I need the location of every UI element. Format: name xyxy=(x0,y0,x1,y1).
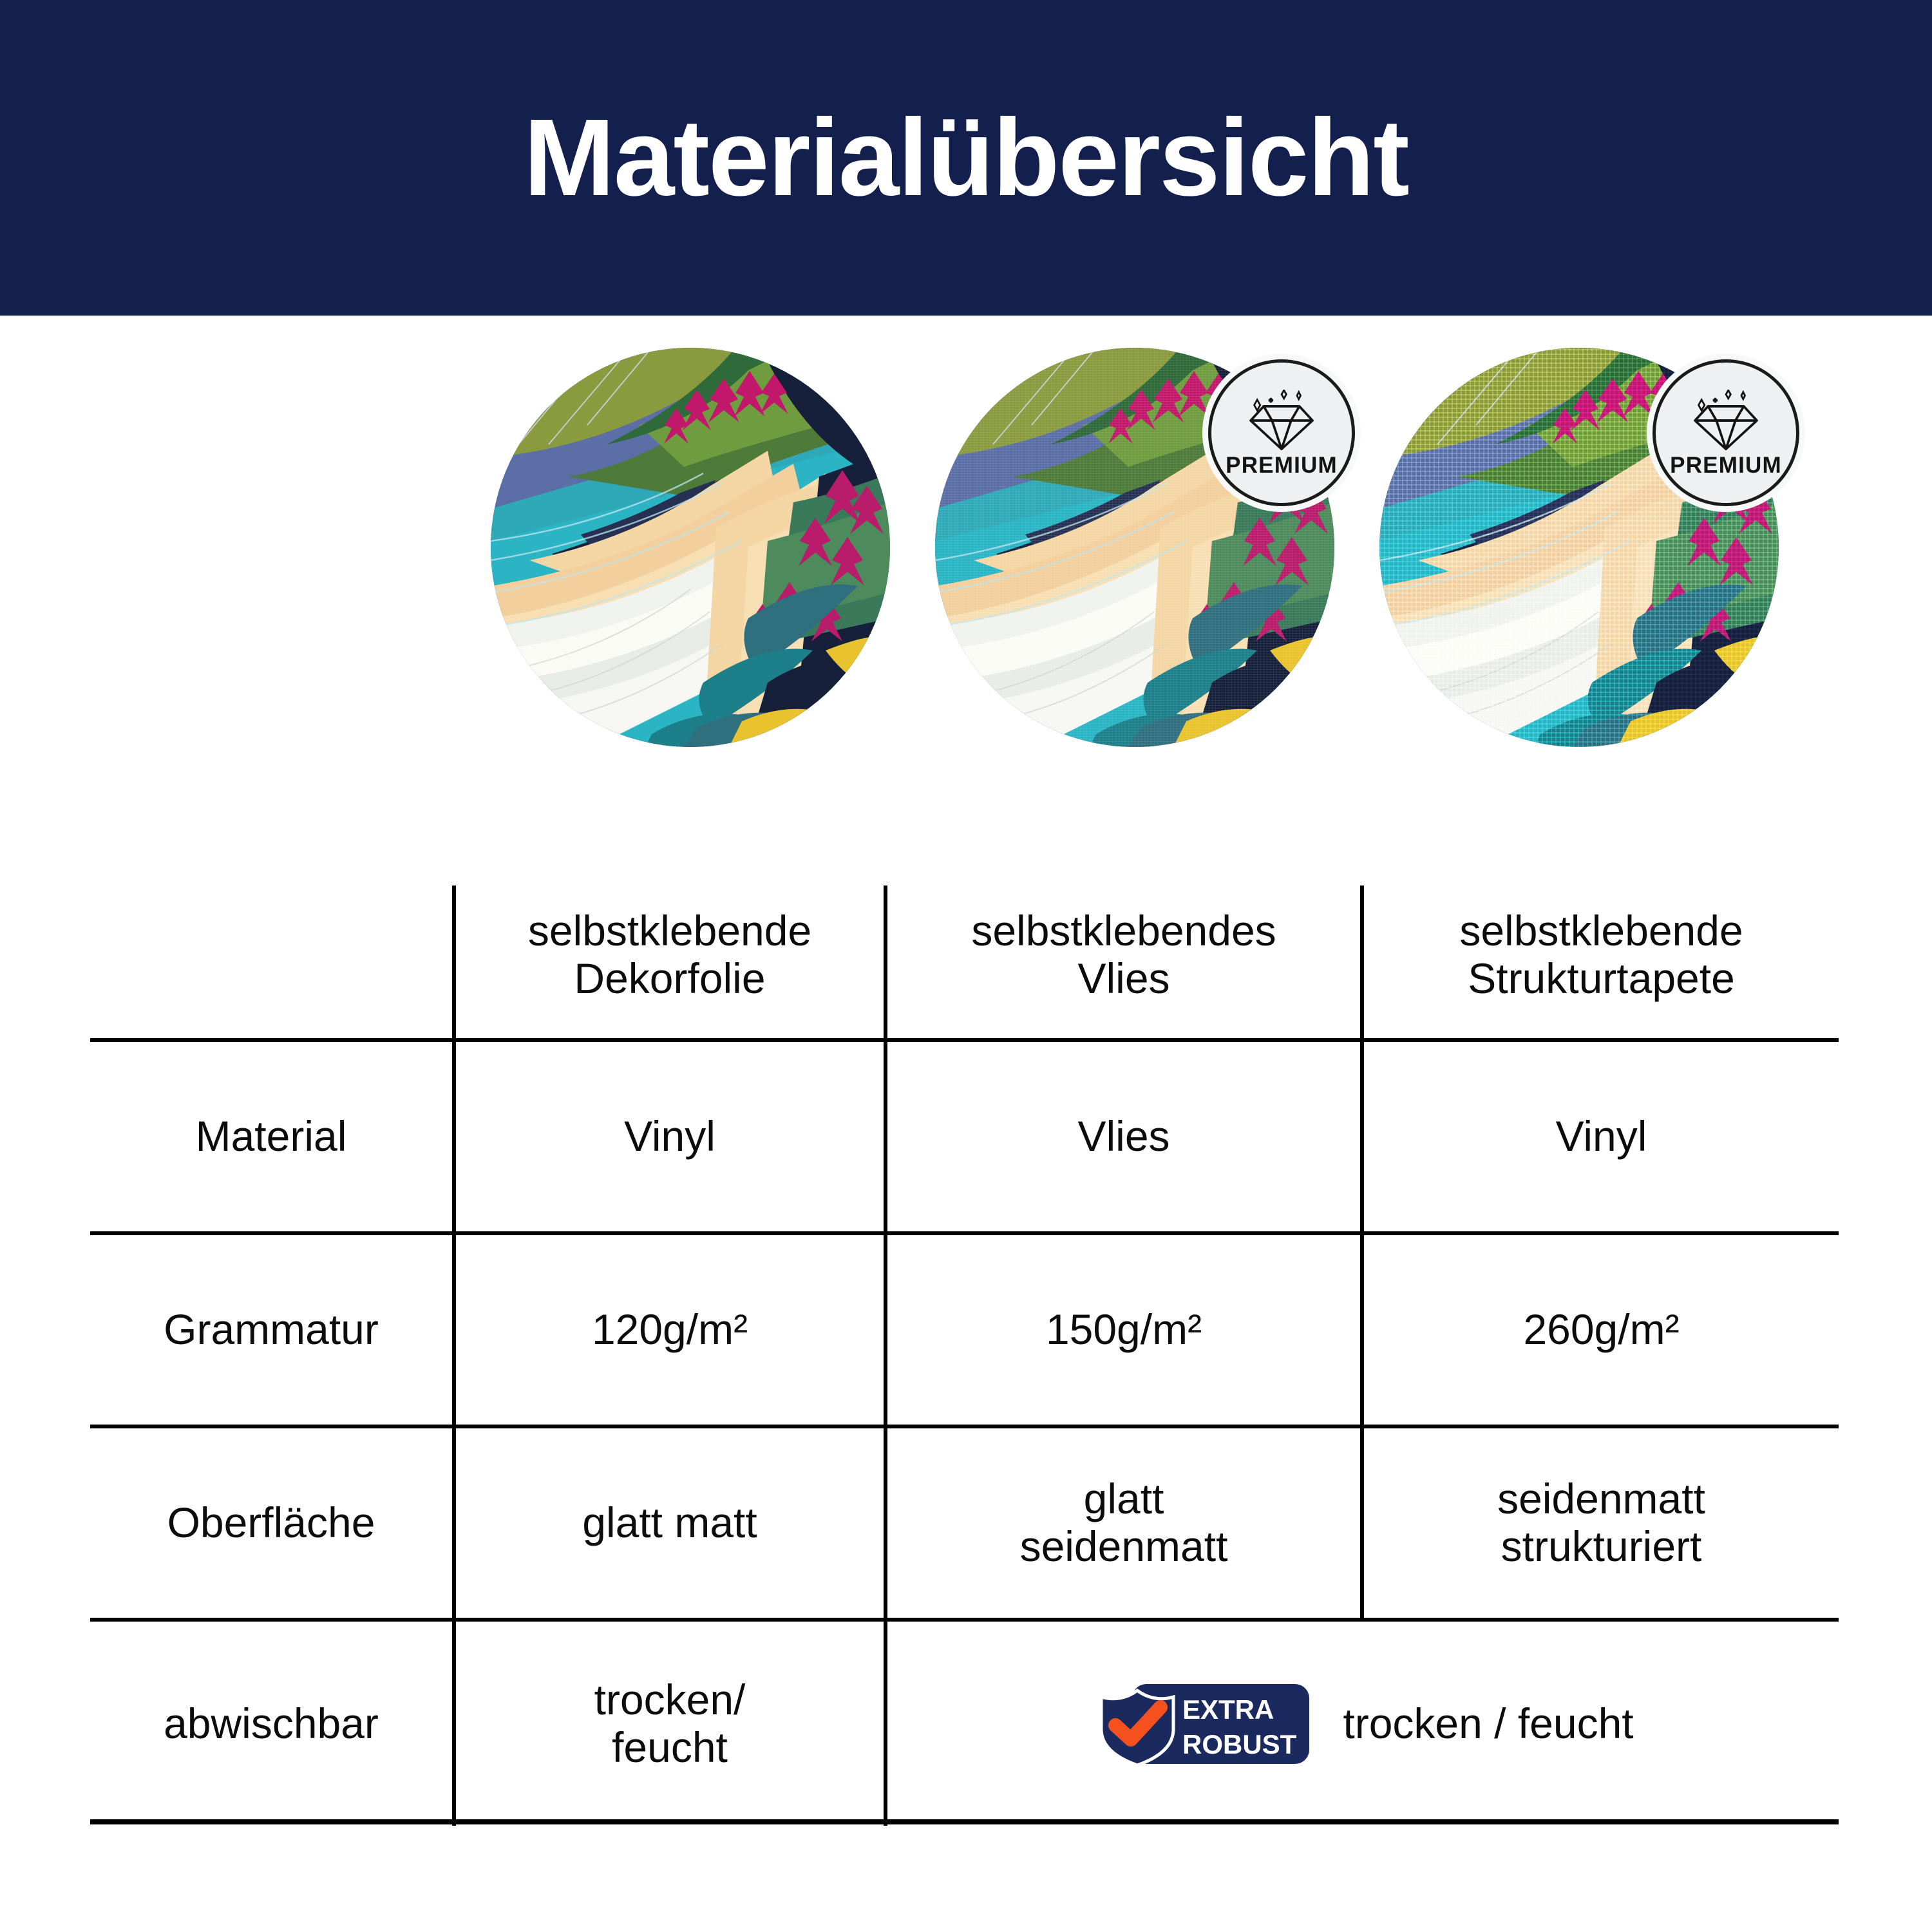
extra-robust-line2: ROBUST xyxy=(1182,1729,1297,1759)
material-comparison-table: selbstklebende Dekorfolie selbstklebende… xyxy=(90,885,1839,1823)
page-header: Materialübersicht xyxy=(0,0,1932,316)
material-overview-page: Materialübersicht xyxy=(0,0,1932,1932)
column-header-vlies-line2: Vlies xyxy=(1077,954,1170,1002)
cell-abwischbar-merged-text: trocken / feucht xyxy=(1343,1700,1633,1748)
premium-badge: PREMIUM xyxy=(1653,359,1799,506)
beach-illustration-smooth xyxy=(491,348,890,747)
column-header-strukturtapete-line1: selbstklebende xyxy=(1459,907,1743,954)
header-empty-cell xyxy=(90,885,454,1040)
table-bottom-rule xyxy=(90,1819,1839,1824)
table-header-row: selbstklebende Dekorfolie selbstklebende… xyxy=(90,885,1839,1040)
row-label-grammatur: Grammatur xyxy=(90,1233,454,1426)
cell-oberflaeche-strukturtapete: seidenmatt strukturiert xyxy=(1362,1426,1839,1620)
cell-grammatur-dekorfolie: 120g/m² xyxy=(454,1233,885,1426)
table-row-material: Material Vinyl Vlies Vinyl xyxy=(90,1040,1839,1233)
column-header-vlies: selbstklebendes Vlies xyxy=(885,885,1362,1040)
cell-material-vlies: Vlies xyxy=(885,1040,1362,1233)
cell-material-dekorfolie: Vinyl xyxy=(454,1040,885,1233)
column-header-strukturtapete: selbstklebende Strukturtapete xyxy=(1362,885,1839,1040)
column-header-dekorfolie: selbstklebende Dekorfolie xyxy=(454,885,885,1040)
cell-grammatur-strukturtapete: 260g/m² xyxy=(1362,1233,1839,1426)
cell-abwischbar-dekorfolie: trocken/ feucht xyxy=(454,1620,885,1826)
column-header-dekorfolie-line2: Dekorfolie xyxy=(574,954,765,1002)
product-preview-strukturtapete[interactable]: PREMIUM xyxy=(1379,348,1779,747)
row-label-abwischbar: abwischbar xyxy=(90,1620,454,1826)
extra-robust-badge: EXTRA ROBUST xyxy=(1092,1679,1314,1769)
cell-material-strukturtapete: Vinyl xyxy=(1362,1040,1839,1233)
cell-oberflaeche-dekorfolie: glatt matt xyxy=(454,1426,885,1620)
product-preview-row: PREMIUM xyxy=(0,348,1932,773)
extra-robust-line1: EXTRA xyxy=(1182,1694,1274,1725)
premium-badge: PREMIUM xyxy=(1208,359,1355,506)
product-preview-dekorfolie[interactable] xyxy=(491,348,890,747)
cell-oberflaeche-strukturtapete-line1: seidenmatt xyxy=(1497,1475,1705,1522)
diamond-icon xyxy=(1245,390,1318,451)
cell-abwischbar-dekorfolie-line2: feucht xyxy=(612,1723,728,1771)
premium-badge-label: PREMIUM xyxy=(1226,454,1338,477)
cell-oberflaeche-vlies-line2: seidenmatt xyxy=(1020,1522,1228,1570)
table-row-oberflaeche: Oberfläche glatt matt glatt seidenmatt s… xyxy=(90,1426,1839,1620)
cell-oberflaeche-vlies: glatt seidenmatt xyxy=(885,1426,1362,1620)
cell-abwischbar-dekorfolie-line1: trocken/ xyxy=(594,1676,746,1723)
cell-oberflaeche-strukturtapete-line2: strukturiert xyxy=(1501,1522,1702,1570)
table-row-abwischbar: abwischbar trocken/ feucht EXTRA xyxy=(90,1620,1839,1826)
column-header-strukturtapete-line2: Strukturtapete xyxy=(1468,954,1735,1002)
column-header-dekorfolie-line1: selbstklebende xyxy=(528,907,811,954)
premium-badge-label: PREMIUM xyxy=(1670,454,1782,477)
product-preview-vlies[interactable]: PREMIUM xyxy=(935,348,1334,747)
column-header-vlies-line1: selbstklebendes xyxy=(971,907,1276,954)
cell-oberflaeche-vlies-line1: glatt xyxy=(1084,1475,1164,1522)
table-row-grammatur: Grammatur 120g/m² 150g/m² 260g/m² xyxy=(90,1233,1839,1426)
cell-grammatur-vlies: 150g/m² xyxy=(885,1233,1362,1426)
cell-abwischbar-merged: EXTRA ROBUST trocken / feucht xyxy=(885,1620,1839,1826)
row-label-material: Material xyxy=(90,1040,454,1233)
row-label-oberflaeche: Oberfläche xyxy=(90,1426,454,1620)
page-title: Materialübersicht xyxy=(524,103,1408,213)
diamond-icon xyxy=(1690,390,1762,451)
